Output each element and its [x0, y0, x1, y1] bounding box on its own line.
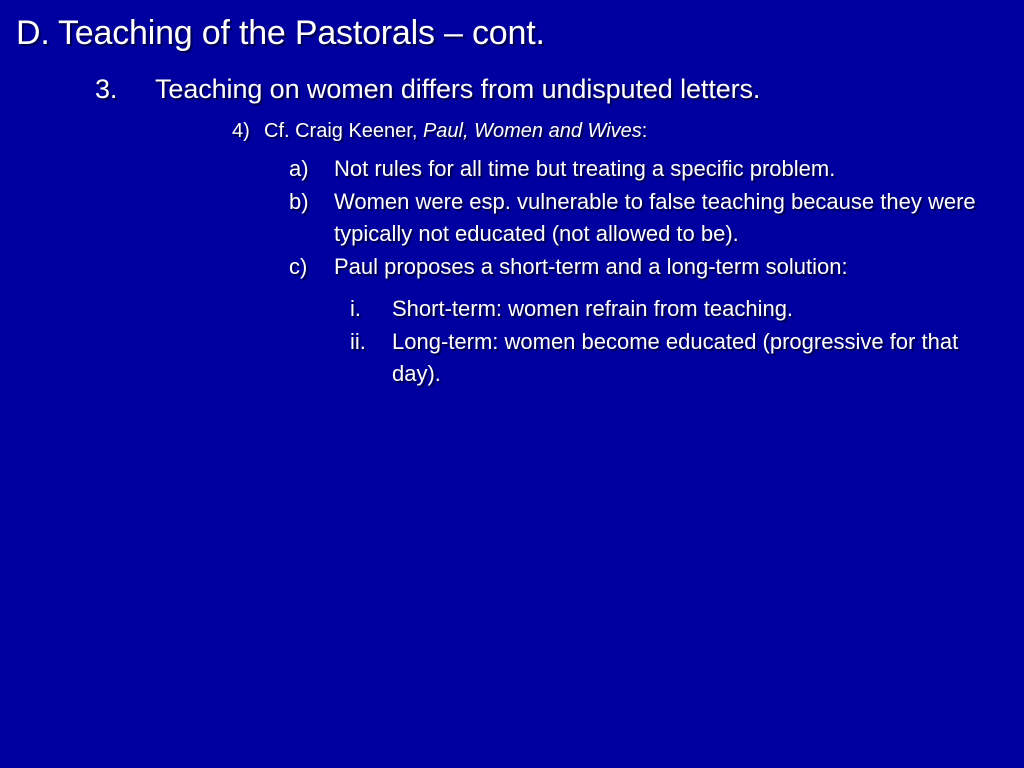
- outline-group-level5: i. Short-term: women refrain from teachi…: [350, 293, 1020, 391]
- level3-text-plain: Cf. Craig Keener,: [264, 120, 423, 142]
- outline-group-level4: a) Not rules for all time but treating a…: [289, 153, 1009, 284]
- outline-item-level4: c) Paul proposes a short-term and a long…: [289, 251, 1009, 283]
- outline-item-level2: 3. Teaching on women differs from undisp…: [95, 72, 1015, 106]
- outline-item-level5: i. Short-term: women refrain from teachi…: [350, 293, 1020, 325]
- level4-text: Women were esp. vulnerable to false teac…: [334, 186, 1009, 250]
- level4-text: Not rules for all time but treating a sp…: [334, 153, 1009, 185]
- title-text: Teaching of the Pastorals – cont.: [58, 12, 1008, 54]
- outline-item-level4: a) Not rules for all time but treating a…: [289, 153, 1009, 185]
- level4-marker: a): [289, 153, 334, 185]
- outline-item-level5: ii. Long-term: women become educated (pr…: [350, 326, 1020, 390]
- level5-text: Short-term: women refrain from teaching.: [392, 293, 1012, 325]
- level3-text-suffix: :: [642, 120, 648, 142]
- level5-marker: i.: [350, 293, 392, 325]
- level4-marker: c): [289, 251, 334, 283]
- slide-title: D. Teaching of the Pastorals – cont.: [16, 12, 1008, 54]
- title-marker: D.: [16, 12, 58, 54]
- level3-text: Cf. Craig Keener, Paul, Women and Wives:: [264, 118, 1012, 145]
- outline-item-level3: 4) Cf. Craig Keener, Paul, Women and Wiv…: [232, 118, 1012, 145]
- slide-canvas: D. Teaching of the Pastorals – cont. 3. …: [0, 0, 1024, 768]
- level3-marker: 4): [232, 118, 264, 145]
- outline-item-level4: b) Women were esp. vulnerable to false t…: [289, 186, 1009, 250]
- level2-text: Teaching on women differs from undispute…: [155, 72, 1015, 106]
- level3-book-title: Paul, Women and Wives: [423, 120, 642, 142]
- level5-marker: ii.: [350, 326, 392, 358]
- level2-marker: 3.: [95, 72, 155, 106]
- level5-text: Long-term: women become educated (progre…: [392, 326, 1012, 390]
- level4-marker: b): [289, 186, 334, 218]
- level4-text: Paul proposes a short-term and a long-te…: [334, 251, 1009, 283]
